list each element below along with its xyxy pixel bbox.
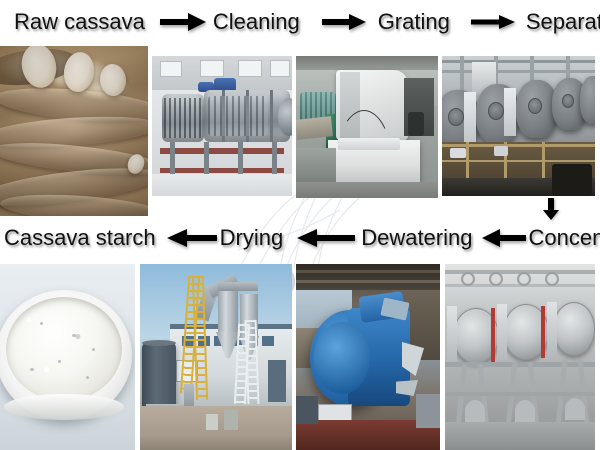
arrow-left-icon-1 (164, 227, 220, 249)
step-label-dewatering: Dewatering (361, 227, 472, 249)
flow-row-top: Raw cassava Cleaning Grating Separating (0, 0, 600, 44)
photo-drying-flash-dryer (140, 264, 292, 450)
step-label-concentrating: Concentrating (528, 227, 600, 249)
photo-separating-sieves (442, 56, 595, 196)
step-label-separating: Separating (526, 11, 600, 33)
photo-grating-rasper (296, 56, 438, 198)
step-label-cleaning: Cleaning (213, 11, 300, 33)
photo-concentrating-separators (445, 264, 595, 450)
arrow-right-icon-2 (318, 11, 370, 33)
flow-row-mid: Cassava starch Drying Dewatering Concent… (0, 216, 600, 260)
arrow-left-icon-2 (295, 227, 357, 249)
arrow-left-icon-3 (480, 227, 528, 249)
arrow-right-icon-1 (157, 11, 209, 33)
step-label-drying: Drying (220, 227, 284, 249)
photo-dewatering-centrifuge (296, 264, 440, 450)
cassava-starch-flow-diagram: DOING Raw cassava Cleaning Grating Separ… (0, 0, 600, 450)
photo-raw-cassava (0, 46, 148, 216)
arrow-right-icon-3 (468, 11, 518, 33)
step-label-cassava-starch: Cassava starch (4, 227, 156, 249)
step-label-raw-cassava: Raw cassava (14, 11, 145, 33)
step-label-grating: Grating (378, 11, 450, 33)
arrow-down-icon (543, 198, 559, 225)
photo-cleaning-washer (152, 56, 292, 196)
photo-cassava-starch-powder (0, 264, 135, 450)
